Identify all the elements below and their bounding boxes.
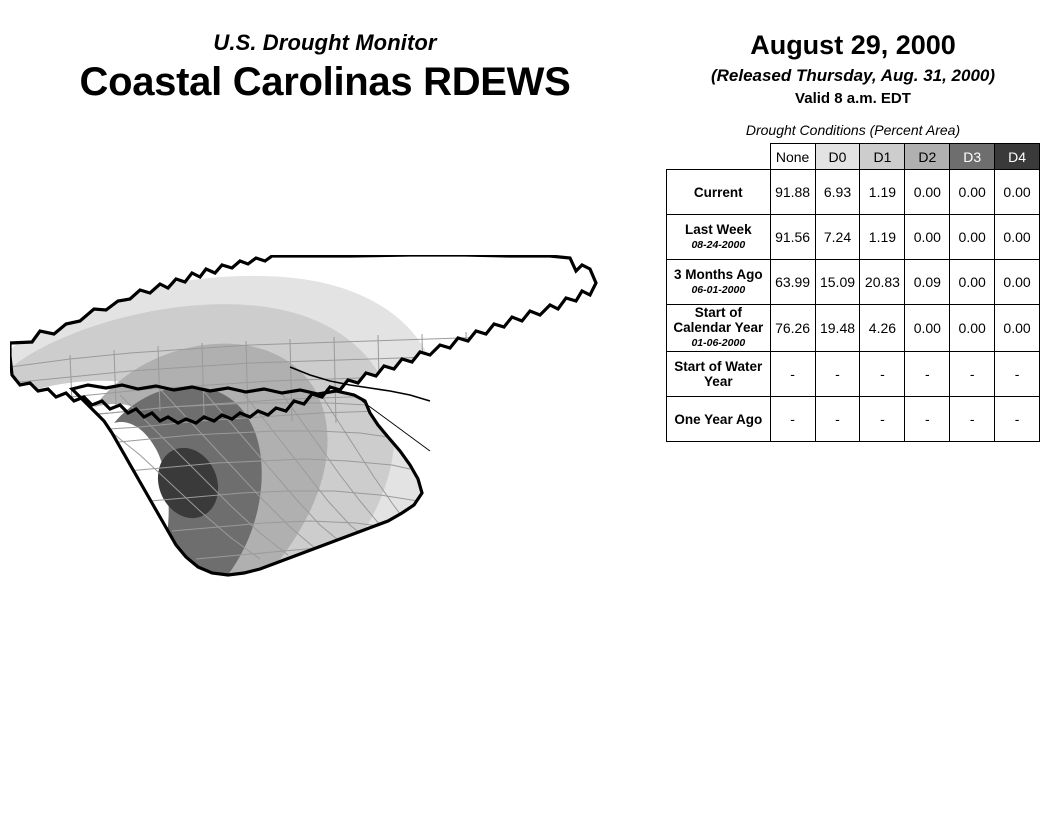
row-label-start-calendar-year: Start of Calendar Year 01-06-2000 [667,305,771,352]
map-container [10,255,650,655]
row-label-text: Last Week [685,222,752,237]
row-label-text: Start of Calendar Year [673,305,763,335]
row-label-text: 3 Months Ago [674,267,763,282]
cell-last-week-d0: 7.24 [815,215,860,260]
cell-current-d0: 6.93 [815,170,860,215]
drought-monitor-page: U.S. Drought Monitor Coastal Carolinas R… [0,0,1056,816]
table-corner-cell [667,144,771,170]
column-header-d1: D1 [860,144,905,170]
cell-one-year-d2: - [905,397,950,442]
cell-calendar-d0: 19.48 [815,305,860,352]
cell-one-year-d0: - [815,397,860,442]
table-row: One Year Ago - - - - - - [667,397,1040,442]
drought-intensity-layer [10,276,442,647]
row-label-current: Current [667,170,771,215]
release-date: (Released Thursday, Aug. 31, 2000) [650,66,1056,86]
column-header-none: None [770,144,815,170]
row-label-one-year-ago: One Year Ago [667,397,771,442]
cell-3-months-d3: 0.00 [950,260,995,305]
cell-last-week-d4: 0.00 [995,215,1040,260]
cell-one-year-d1: - [860,397,905,442]
row-label-start-water-year: Start of Water Year [667,352,771,397]
cell-3-months-d2: 0.09 [905,260,950,305]
table-row: Start of Water Year - - - - - - [667,352,1040,397]
cell-water-d3: - [950,352,995,397]
cell-one-year-d3: - [950,397,995,442]
cell-water-d4: - [995,352,1040,397]
column-header-d0: D0 [815,144,860,170]
table-row: Start of Calendar Year 01-06-2000 76.26 … [667,305,1040,352]
cell-water-d1: - [860,352,905,397]
cell-3-months-none: 63.99 [770,260,815,305]
row-label-text: Current [694,185,743,200]
row-label-text: Start of Water Year [674,359,762,389]
valid-time: Valid 8 a.m. EDT [650,90,1056,107]
column-header-d2: D2 [905,144,950,170]
cell-last-week-d2: 0.00 [905,215,950,260]
cell-last-week-d3: 0.00 [950,215,995,260]
cell-last-week-d1: 1.19 [860,215,905,260]
row-label-3-months-ago: 3 Months Ago 06-01-2000 [667,260,771,305]
cell-one-year-d4: - [995,397,1040,442]
cell-3-months-d4: 0.00 [995,260,1040,305]
info-panel: August 29, 2000 (Released Thursday, Aug.… [650,0,1056,816]
table-row: 3 Months Ago 06-01-2000 63.99 15.09 20.8… [667,260,1040,305]
cell-current-d1: 1.19 [860,170,905,215]
cell-calendar-d4: 0.00 [995,305,1040,352]
row-label-date: 01-06-2000 [667,336,770,351]
cell-water-d2: - [905,352,950,397]
cell-last-week-none: 91.56 [770,215,815,260]
cell-current-d2: 0.00 [905,170,950,215]
cell-calendar-d1: 4.26 [860,305,905,352]
cell-current-none: 91.88 [770,170,815,215]
table-header-row: None D0 D1 D2 D3 D4 [667,144,1040,170]
cell-water-d0: - [815,352,860,397]
report-date: August 29, 2000 [650,30,1056,61]
cell-water-none: - [770,352,815,397]
cell-calendar-d3: 0.00 [950,305,995,352]
row-label-date: 08-24-2000 [667,238,770,253]
coastal-carolinas-map [10,255,650,655]
cell-one-year-none: - [770,397,815,442]
row-label-text: One Year Ago [674,412,762,427]
page-title: Coastal Carolinas RDEWS [0,60,650,105]
column-header-d3: D3 [950,144,995,170]
column-header-d4: D4 [995,144,1040,170]
cell-current-d4: 0.00 [995,170,1040,215]
row-label-date: 06-01-2000 [667,283,770,298]
table-row: Last Week 08-24-2000 91.56 7.24 1.19 0.0… [667,215,1040,260]
cell-calendar-none: 76.26 [770,305,815,352]
cell-current-d3: 0.00 [950,170,995,215]
cell-calendar-d2: 0.00 [905,305,950,352]
map-panel: U.S. Drought Monitor Coastal Carolinas R… [0,0,650,816]
row-label-last-week: Last Week 08-24-2000 [667,215,771,260]
drought-conditions-table: None D0 D1 D2 D3 D4 Current 91.88 6.93 1… [666,143,1040,442]
cell-3-months-d0: 15.09 [815,260,860,305]
table-row: Current 91.88 6.93 1.19 0.00 0.00 0.00 [667,170,1040,215]
table-caption: Drought Conditions (Percent Area) [650,122,1056,138]
page-subtitle: U.S. Drought Monitor [0,30,650,56]
cell-3-months-d1: 20.83 [860,260,905,305]
